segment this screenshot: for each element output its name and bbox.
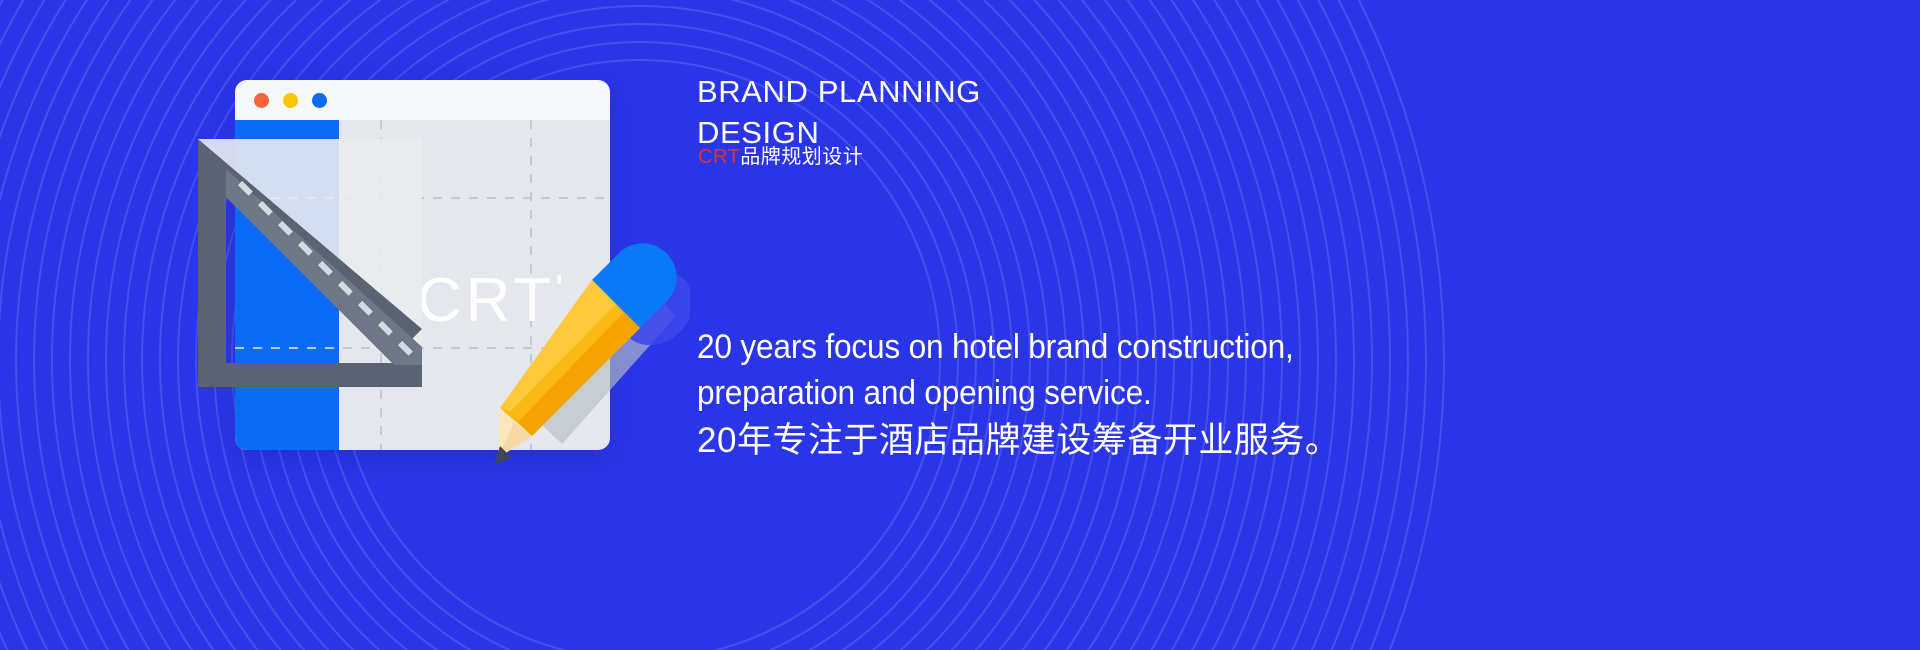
- close-dot-icon[interactable]: [254, 93, 269, 108]
- subtitle-brand: CRT: [698, 146, 740, 168]
- set-square-ruler-icon: [190, 135, 440, 395]
- tagline-english: 20 years focus on hotel brand constructi…: [697, 325, 1348, 416]
- design-illustration: CRT': [190, 80, 690, 480]
- maximize-dot-icon[interactable]: [312, 93, 327, 108]
- minimize-dot-icon[interactable]: [283, 93, 298, 108]
- hero-banner: CRT': [0, 0, 1920, 650]
- pencil-icon: [470, 230, 690, 480]
- text-column: BRAND PLANNING DESIGN CRT品牌规划设计 20 years…: [697, 0, 1847, 650]
- subtitle-row: CRT品牌规划设计: [698, 140, 863, 169]
- subtitle-chinese: 品牌规划设计: [740, 146, 863, 168]
- tagline-chinese: 20年专注于酒店品牌建设筹备开业服务。: [697, 412, 1340, 463]
- card-titlebar: [235, 80, 610, 120]
